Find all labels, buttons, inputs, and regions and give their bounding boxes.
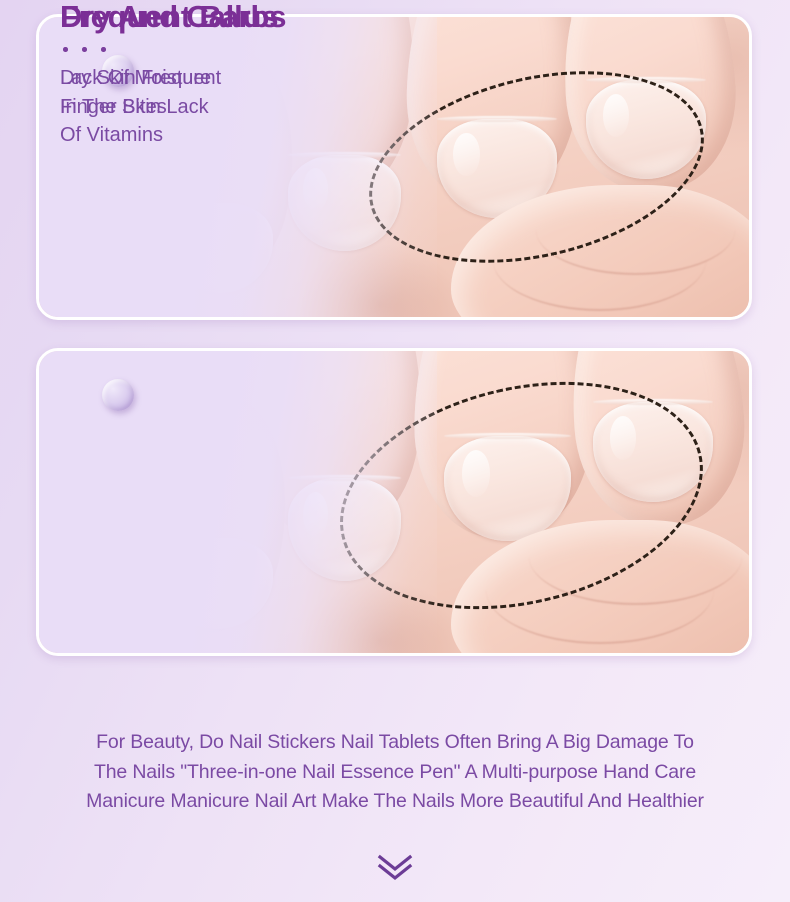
info-card-dry-and-callus xyxy=(36,348,752,656)
card-text-dry-and-callus: Dry And Callus Lack Of Moisture In The S… xyxy=(60,0,278,150)
card-description: Lack Of Moisture In The Skin Lack Of Vit… xyxy=(60,64,278,149)
dots-separator xyxy=(63,47,278,52)
lavender-gradient-overlay xyxy=(39,351,437,653)
bead-circle-icon xyxy=(102,379,134,411)
card-photo-dry-and-callus xyxy=(39,351,749,653)
cuticle-edge xyxy=(586,77,707,83)
cuticle-edge xyxy=(437,116,558,122)
cuticle-edge xyxy=(444,433,572,439)
footer-description: For Beauty, Do Nail Stickers Nail Tablet… xyxy=(0,728,790,817)
separator-dot xyxy=(82,47,87,52)
separator-dot xyxy=(101,47,106,52)
separator-dot xyxy=(63,47,68,52)
card-title: Dry And Callus xyxy=(60,0,278,33)
double-chevron-down-icon[interactable] xyxy=(374,852,416,882)
skin-crease xyxy=(493,209,706,311)
skin-crease xyxy=(486,535,713,644)
